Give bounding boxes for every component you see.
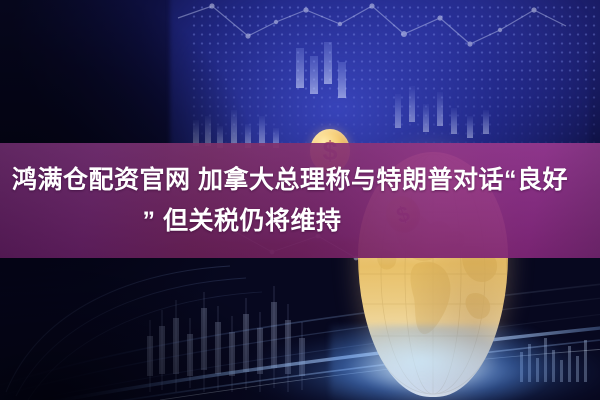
globe-glow [330, 325, 560, 400]
headline-line-1: 鸿满仓配资官网 加拿大总理称与特朗普对话“良好 [12, 160, 590, 201]
banner-image: $ $ 鸿满仓配资官网 加拿大总理称与特朗普对话“良好 ” 但关税仍将维持 [0, 0, 600, 400]
headline-line-2: ” 但关税仍将维持 [12, 201, 590, 242]
headline-text-block: 鸿满仓配资官网 加拿大总理称与特朗普对话“良好 ” 但关税仍将维持 [0, 143, 600, 258]
